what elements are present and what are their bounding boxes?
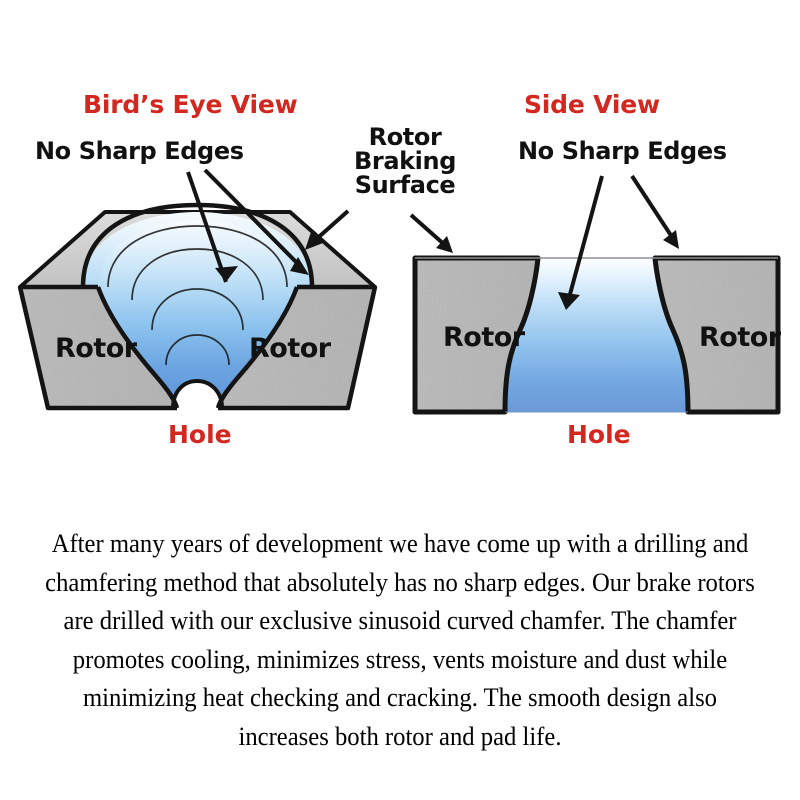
label-rotor-birdseye-right: Rotor: [249, 333, 331, 364]
label-hole-sideview: Hole: [567, 420, 631, 449]
label-hole-birdseye: Hole: [168, 420, 232, 449]
arrow-shaft-rbs-right: [411, 215, 446, 246]
description-paragraph: After many years of development we have …: [35, 524, 764, 755]
arrow-shaft-sv-2: [632, 176, 672, 237]
label-rotor-birdseye-left: Rotor: [55, 333, 137, 364]
label-rotor-sideview-right: Rotor: [699, 322, 781, 353]
diagram-canvas: Bird’s Eye View Side View No Sharp Edges…: [0, 0, 800, 800]
label-rotor-sideview-left: Rotor: [443, 322, 525, 353]
